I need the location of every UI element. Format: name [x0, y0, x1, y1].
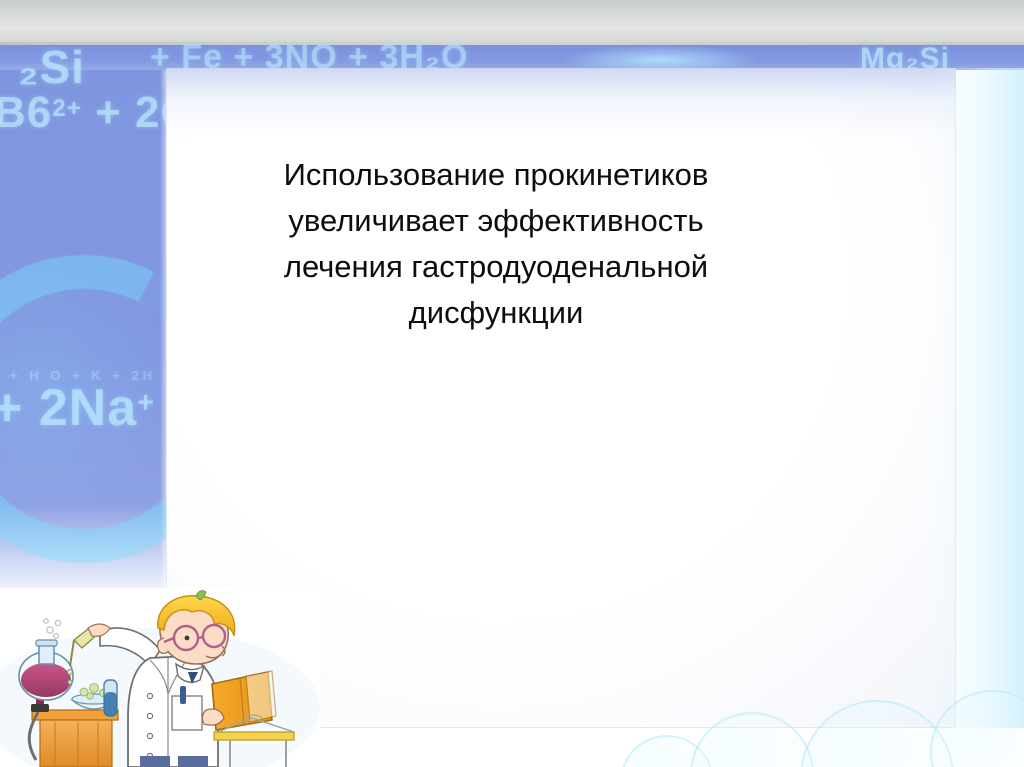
slide-title: Использование прокинетиков увеличивает э…: [246, 152, 746, 336]
slide-top-strip: [0, 0, 1024, 45]
slide-top-blue-band: [0, 45, 1024, 70]
slide-top-band-glow: [560, 45, 760, 70]
panel-right-glow: [934, 68, 1024, 728]
panel-top-glow: [166, 68, 956, 138]
test-tube: [104, 680, 117, 716]
presentation-slide: ₂Si B62+ + 2OH + Fe + 3NO + 3H₂O Mg₂Si +…: [0, 0, 1024, 767]
lab-bench: [32, 710, 118, 767]
cartoon-chemist-illustration: [0, 588, 320, 767]
